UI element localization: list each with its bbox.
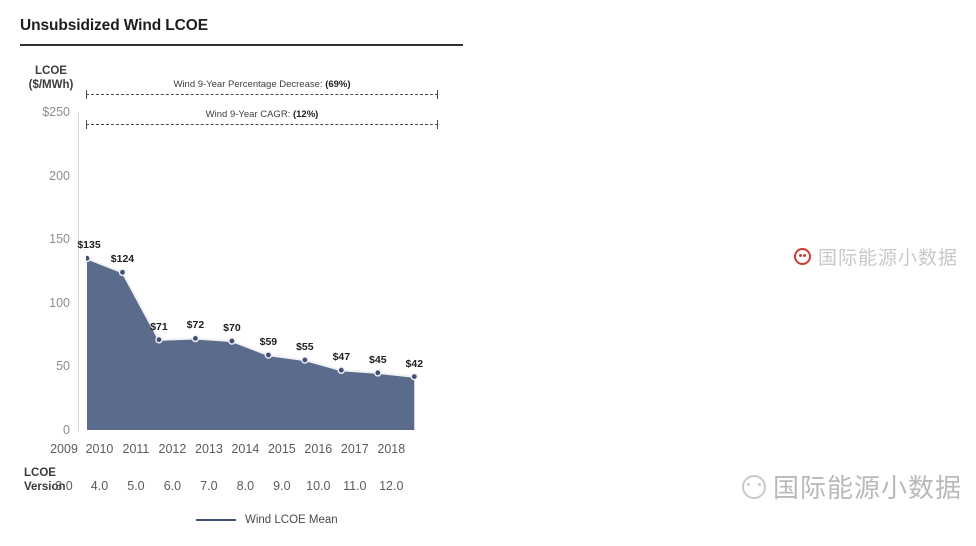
y-axis-line-wind: [78, 112, 79, 432]
data-point-label: $124: [111, 253, 134, 265]
x-axis-tick: 2018: [368, 442, 414, 456]
y-axis-tick: 0: [8, 423, 70, 437]
annotation-bracket-decrease-wind: Wind 9-Year Percentage Decrease: (69%): [86, 94, 438, 95]
y-axis-caption-line2: ($/MWh): [22, 78, 80, 92]
legend-wind: Wind LCOE Mean: [196, 514, 338, 526]
y-axis-tick: 50: [972, 388, 976, 402]
data-point-label: $59: [260, 336, 278, 348]
y-axis-caption-wind: LCOE ($/MWh): [22, 64, 80, 92]
data-point-label: $70: [223, 322, 241, 334]
y-axis-tick: 200: [8, 169, 70, 183]
y-axis-tick: 100: [8, 296, 70, 310]
y-axis-tick: 400: [972, 140, 976, 154]
plot-area-wind: [86, 112, 438, 430]
legend-label-wind: Wind LCOE Mean: [245, 514, 338, 526]
data-point-label: $71: [150, 321, 168, 333]
version-value: 12.0: [368, 479, 414, 493]
watermark-face-icon: [742, 475, 766, 499]
page-title-wind: Unsubsidized Wind LCOE: [20, 17, 208, 35]
y-axis-tick: 150: [972, 317, 976, 331]
bracket-cap-left: [86, 90, 87, 99]
data-point-label: $47: [333, 351, 351, 363]
bracket-line: [86, 94, 438, 95]
y-axis-tick: $250: [8, 105, 70, 119]
data-point-label: $72: [187, 319, 205, 331]
panel-wind: Unsubsidized Wind LCOE LCOE ($/MWh) Wind…: [0, 0, 488, 546]
annotation-label-decrease-wind: Wind 9-Year Percentage Decrease: (69%): [86, 79, 438, 90]
y-axis-tick: 150: [8, 232, 70, 246]
data-point-label: $42: [406, 358, 424, 370]
bracket-cap-right: [437, 90, 438, 99]
y-axis-tick: 350: [972, 176, 976, 190]
legend-swatch-wind: [196, 519, 236, 521]
y-axis-caption-line1: LCOE: [22, 64, 80, 78]
y-axis-tick: 200: [972, 282, 976, 296]
watermark-face-icon: [794, 248, 811, 265]
watermark-top: 国际能源小数据: [794, 243, 958, 270]
y-axis-tick: 300: [972, 211, 976, 225]
data-point-label: $45: [369, 354, 387, 366]
chart-page: Unsubsidized Wind LCOE LCOE ($/MWh) Wind…: [0, 0, 976, 546]
panel-solar: Unsubsidized Solar PV LCOE LCOE ($/MWh) …: [488, 0, 976, 546]
y-axis-tick: 50: [8, 359, 70, 373]
data-point-label: $135: [77, 239, 100, 251]
y-axis-tick: 0: [972, 423, 976, 437]
title-divider-wind: [20, 44, 463, 46]
y-axis-tick: $450: [972, 105, 976, 119]
watermark-bottom-text: 国际能源小数据: [773, 468, 962, 505]
watermark-top-text: 国际能源小数据: [818, 243, 958, 270]
version-label-line1: LCOE: [24, 466, 66, 480]
y-axis-tick: 250: [972, 246, 976, 260]
data-point-label: $55: [296, 341, 314, 353]
y-axis-tick: 100: [972, 352, 976, 366]
watermark-bottom: 国际能源小数据: [742, 468, 962, 505]
